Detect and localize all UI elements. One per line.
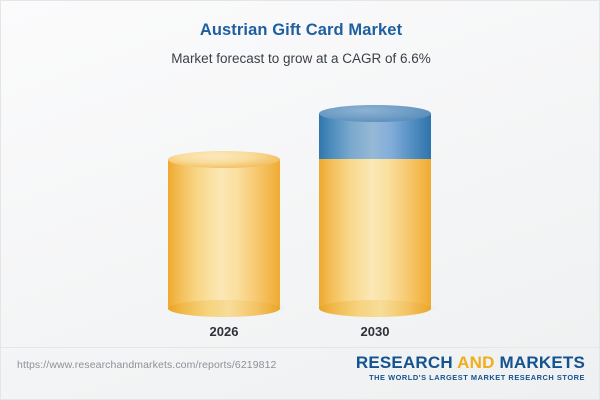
bar-segment-base [319,159,431,309]
logo-word-and: AND [457,353,494,372]
logo-word-markets: MARKETS [500,353,585,372]
source-url[interactable]: https://www.researchandmarkets.com/repor… [17,359,276,371]
cylinder-body [168,159,280,309]
logo-word-research: RESEARCH [356,353,453,372]
footer: https://www.researchandmarkets.com/repor… [1,347,600,399]
cylinder-bottom-ellipse [319,300,431,317]
cylinder-body [319,159,431,309]
bar-segment-growth [319,113,431,159]
cylinder-bottom-ellipse [168,300,280,317]
logo-tagline: THE WORLD'S LARGEST MARKET RESEARCH STOR… [356,373,585,383]
category-label-2030: 2030 [279,324,471,339]
chart-card: Austrian Gift Card Market Market forecas… [0,0,600,400]
brand-logo[interactable]: RESEARCH AND MARKETS THE WORLD'S LARGEST… [356,353,585,383]
cylinder-top-ellipse [319,105,431,122]
plot-area: USD 1.56 Billion 2026 USD 2.02 Billion [1,1,600,349]
bar-segment-base [168,159,280,309]
cylinder-2026 [168,159,280,309]
logo-wordmark: RESEARCH AND MARKETS [356,353,585,373]
cylinder-top-ellipse [168,151,280,168]
cylinder-2030 [319,114,431,309]
